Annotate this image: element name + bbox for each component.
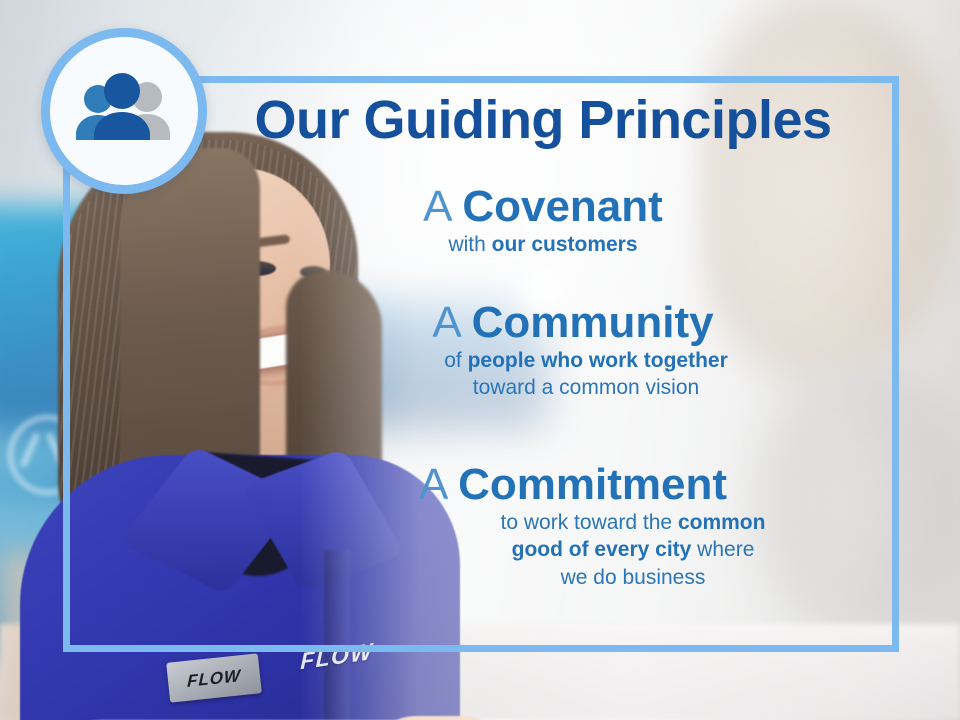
detail-line: with our customers (213, 231, 873, 259)
principle-headline: A Covenant (213, 184, 873, 231)
principle-community: A Community of people who work together … (243, 300, 903, 402)
principle-commitment: A Commitment to work toward the common g… (243, 462, 903, 592)
principle-article: A (419, 460, 446, 509)
name-badge-text: FLOW (187, 667, 241, 690)
detail-line: good of every city where (363, 536, 903, 564)
banner-canvas: FLOW FLOW Our Guiding Principles (0, 0, 960, 720)
principle-detail: of people who work together toward a com… (243, 347, 903, 402)
principle-headline: A Community (243, 300, 903, 347)
detail-line: to work toward the common (363, 509, 903, 537)
principle-covenant: A Covenant with our customers (213, 184, 873, 258)
detail-line: of people who work together (269, 347, 903, 375)
principle-article: A (423, 182, 450, 231)
people-group-badge (41, 28, 207, 194)
principle-detail: to work toward the common good of every … (243, 509, 903, 592)
detail-line: we do business (363, 564, 903, 592)
detail-line: toward a common vision (269, 374, 903, 402)
principle-keyword: Community (472, 298, 714, 347)
page-title: Our Guiding Principles (213, 92, 873, 149)
people-group-icon (72, 72, 176, 150)
principle-keyword: Commitment (458, 460, 727, 509)
principle-headline: A Commitment (243, 462, 903, 509)
principle-detail: with our customers (213, 231, 873, 259)
principle-article: A (432, 298, 459, 347)
principle-keyword: Covenant (462, 182, 662, 231)
